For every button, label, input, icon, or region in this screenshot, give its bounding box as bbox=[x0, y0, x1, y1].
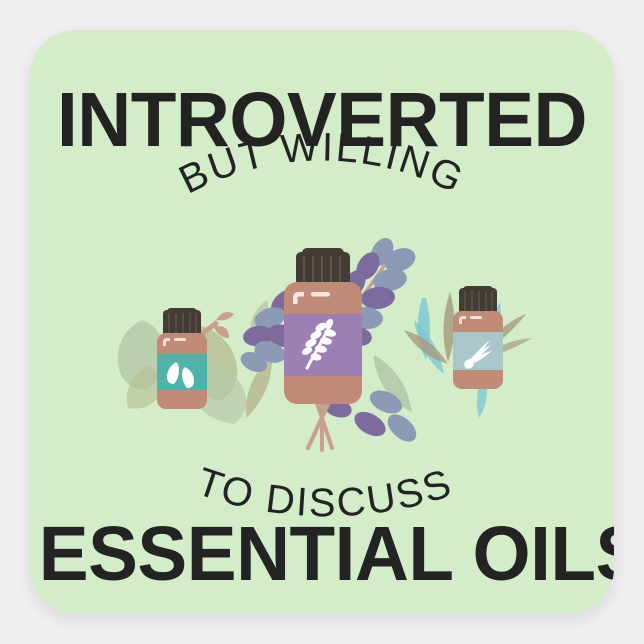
center-bottle-group bbox=[238, 234, 422, 450]
right-bottle bbox=[453, 286, 503, 389]
headline-top: INTROVERTED bbox=[39, 82, 605, 159]
center-stems bbox=[308, 400, 332, 450]
headline-bottom: ESSENTIAL OILS bbox=[39, 516, 605, 593]
sticker-card: BUT WILLING TO DISCUSS INTROVERTED ESSEN… bbox=[30, 30, 614, 614]
sticker-stage: BUT WILLING TO DISCUSS INTROVERTED ESSEN… bbox=[0, 0, 644, 644]
right-bottle-group bbox=[404, 286, 532, 418]
left-bottle bbox=[157, 308, 207, 409]
left-bottle-group bbox=[118, 308, 247, 424]
center-bottle bbox=[284, 248, 362, 404]
